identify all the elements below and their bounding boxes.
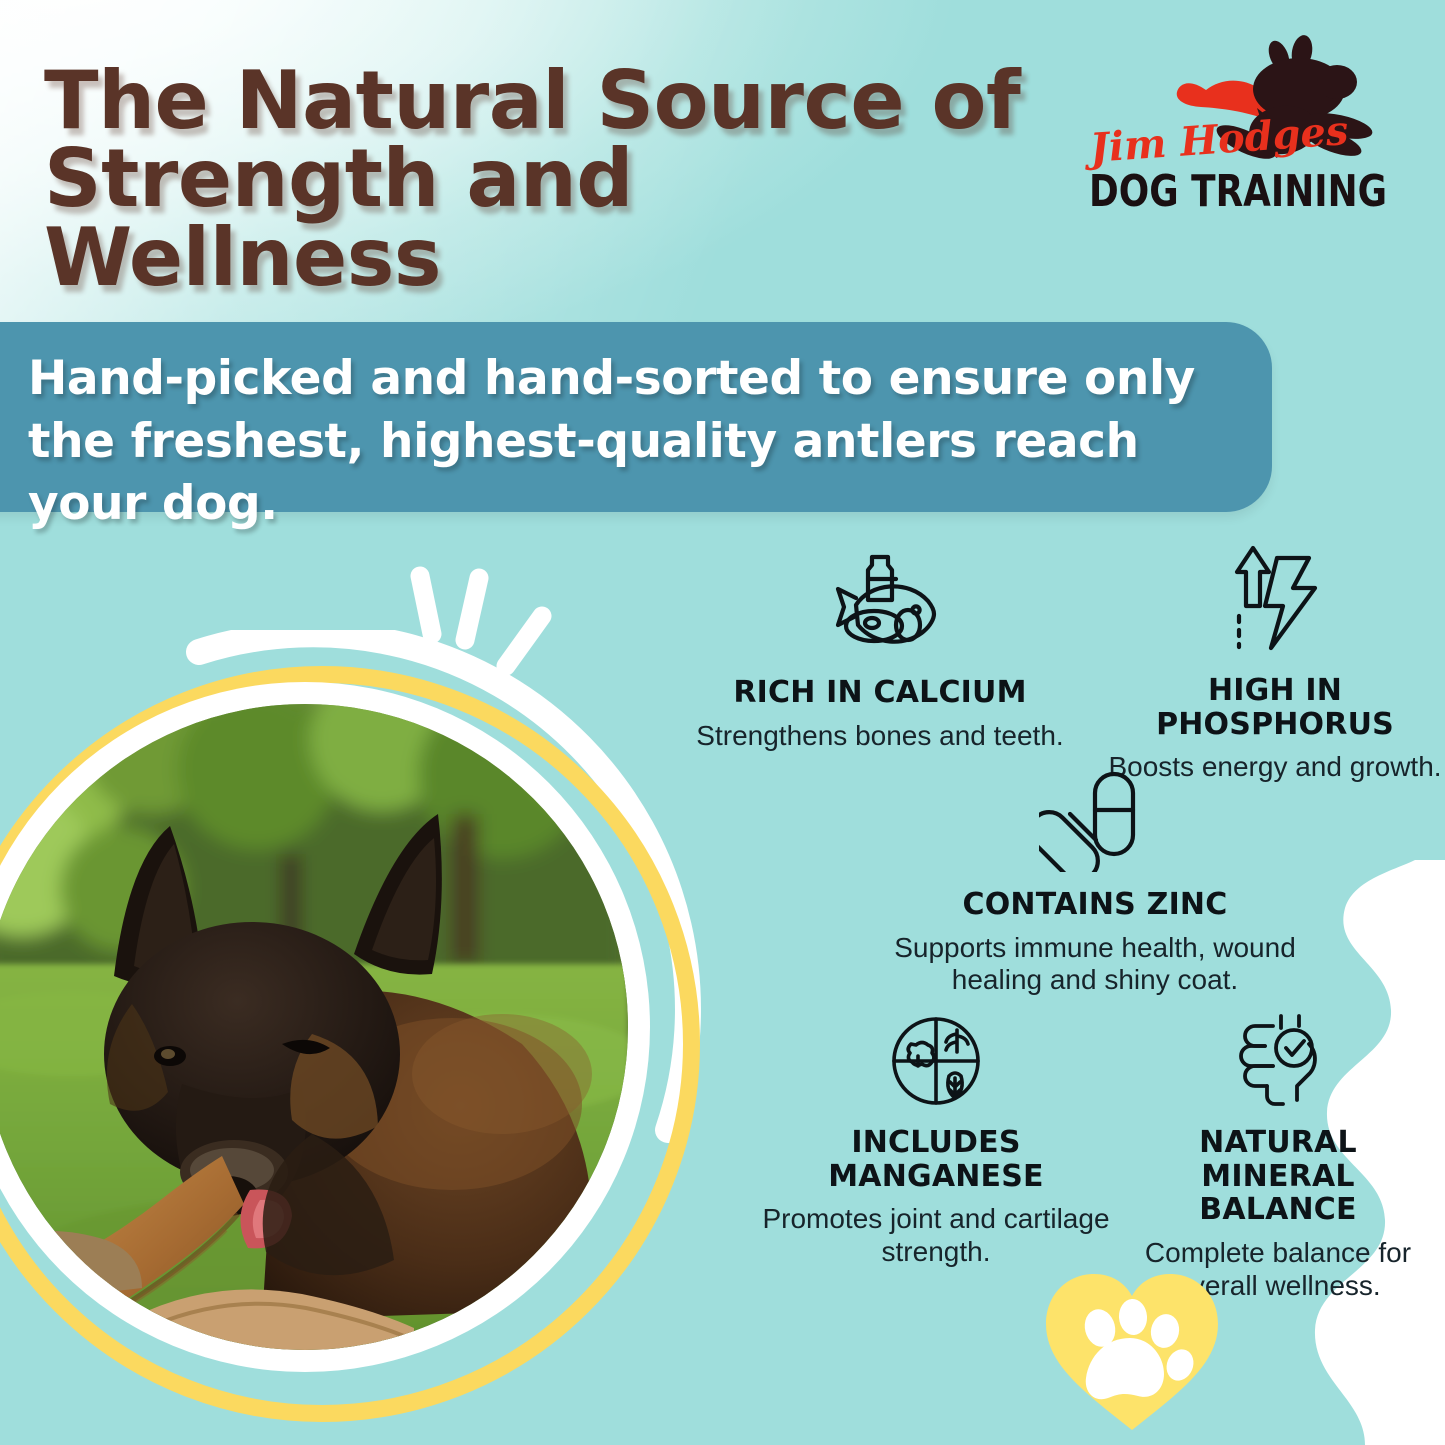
feature-title: NATURAL MINERAL BALANCE <box>1118 1126 1438 1227</box>
page-title: The Natural Source of Strength and Welln… <box>44 62 1054 297</box>
arrow-up-lightning-bolt-icon <box>1100 528 1445 658</box>
gut-health-check-icon <box>1118 980 1438 1110</box>
heart-with-paw-print-icon <box>1032 1252 1232 1442</box>
subtitle-banner: Hand-picked and hand-sorted to ensure on… <box>0 322 1272 512</box>
infographic-canvas: The Natural Source of Strength and Welln… <box>0 0 1445 1445</box>
logo-script-name: Jim Hodges <box>1081 107 1349 172</box>
feature-title: HIGH IN PHOSPHORUS <box>1100 674 1445 741</box>
two-capsules-icon <box>860 742 1330 872</box>
feature-rich-in-calcium: RICH IN CALCIUM Strengthens bones and te… <box>655 530 1105 752</box>
fish-and-milk-bottle-icon <box>655 530 1105 660</box>
feature-title: INCLUDES MANGANESE <box>760 1126 1112 1193</box>
logo-wordmark: DOG TRAINING <box>1089 166 1387 217</box>
food-quadrant-circle-icon <box>760 980 1112 1110</box>
brand-logo[interactable]: Jim Hodges DOG TRAINING <box>1061 34 1411 239</box>
dog-photo-frame <box>0 622 710 1432</box>
feature-includes-manganese: INCLUDES MANGANESE Promotes joint and ca… <box>760 980 1112 1269</box>
feature-title: RICH IN CALCIUM <box>655 676 1105 710</box>
subtitle-text: Hand-picked and hand-sorted to ensure on… <box>28 348 1228 536</box>
feature-title: CONTAINS ZINC <box>860 888 1330 922</box>
headline-line-2: Strength and Wellness <box>44 140 1054 297</box>
dog-photo <box>0 704 628 1350</box>
feature-contains-zinc: CONTAINS ZINC Supports immune health, wo… <box>860 742 1330 997</box>
decorative-sparkles <box>400 562 600 712</box>
